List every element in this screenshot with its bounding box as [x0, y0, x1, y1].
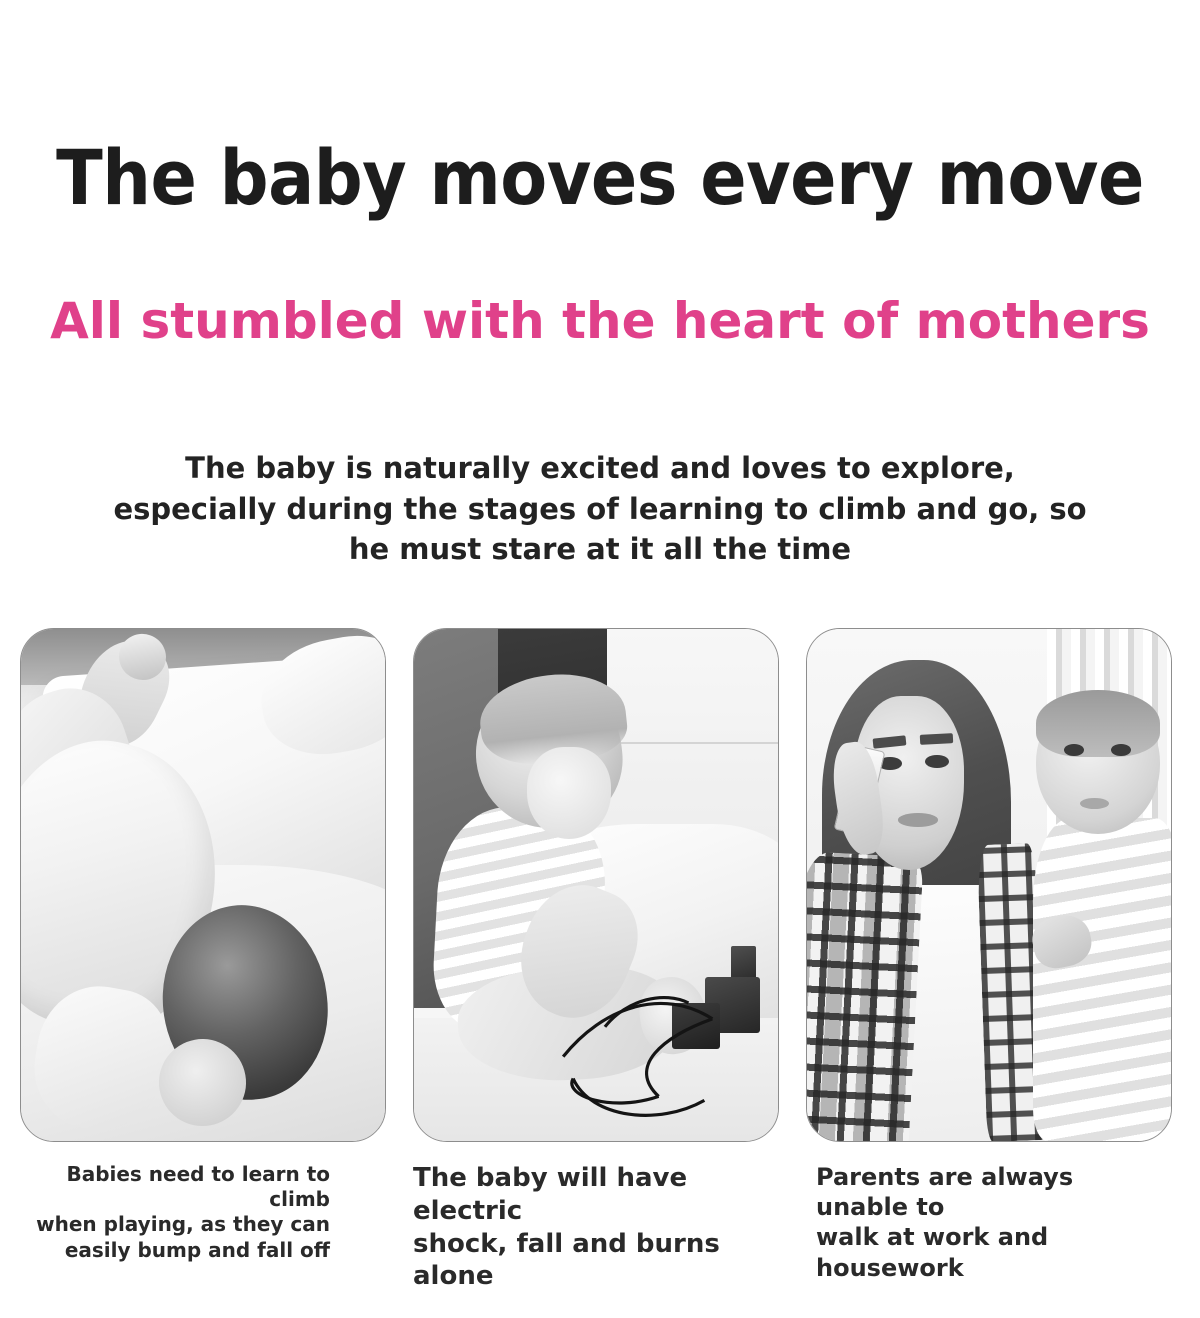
intro-paragraph: The baby is naturally excited and loves …: [50, 448, 1150, 570]
photo-baby-falling: [21, 629, 385, 1141]
photo-card-mother-busy: [806, 628, 1172, 1142]
caption-3-line-1: Parents are always unable to: [816, 1162, 1172, 1222]
intro-line-3: he must stare at it all the time: [50, 529, 1150, 570]
caption-1-line-3: easily bump and fall off: [20, 1238, 330, 1263]
mother-plaid-shirt-left: [806, 851, 924, 1142]
caption-mother-busy: Parents are always unable to walk at wor…: [806, 1162, 1172, 1262]
mother-mouth: [898, 813, 938, 826]
mother-eyebrow-right: [920, 733, 953, 745]
caption-baby-cords: The baby will have electric shock, fall …: [413, 1162, 779, 1262]
power-cord: [414, 629, 778, 1140]
intro-line-2: especially during the stages of learning…: [50, 489, 1150, 530]
page-title: The baby moves every move: [0, 140, 1200, 216]
held-baby-body: [1033, 818, 1172, 1141]
caption-2-line-1: The baby will have electric: [413, 1162, 779, 1228]
caption-2-line-2: shock, fall and burns alone: [413, 1228, 779, 1294]
promo-page: The baby moves every move All stumbled w…: [0, 0, 1200, 1318]
caption-1-line-1: Babies need to learn to climb: [20, 1162, 330, 1212]
caption-baby-falling: Babies need to learn to climb when playi…: [20, 1162, 386, 1262]
photo-row: [20, 628, 1180, 1142]
photo-card-baby-falling: [20, 628, 386, 1142]
caption-1-line-2: when playing, as they can: [20, 1212, 330, 1237]
caption-row: Babies need to learn to climb when playi…: [20, 1162, 1180, 1262]
intro-line-1: The baby is naturally excited and loves …: [50, 448, 1150, 489]
held-baby-hair: [1036, 690, 1160, 757]
photo-baby-cords: [414, 629, 778, 1141]
caption-3-line-2: walk at work and housework: [816, 1222, 1172, 1282]
photo-card-baby-cords: [413, 628, 779, 1142]
photo-mother-busy: [807, 629, 1171, 1141]
page-subtitle: All stumbled with the heart of mothers: [0, 296, 1200, 346]
